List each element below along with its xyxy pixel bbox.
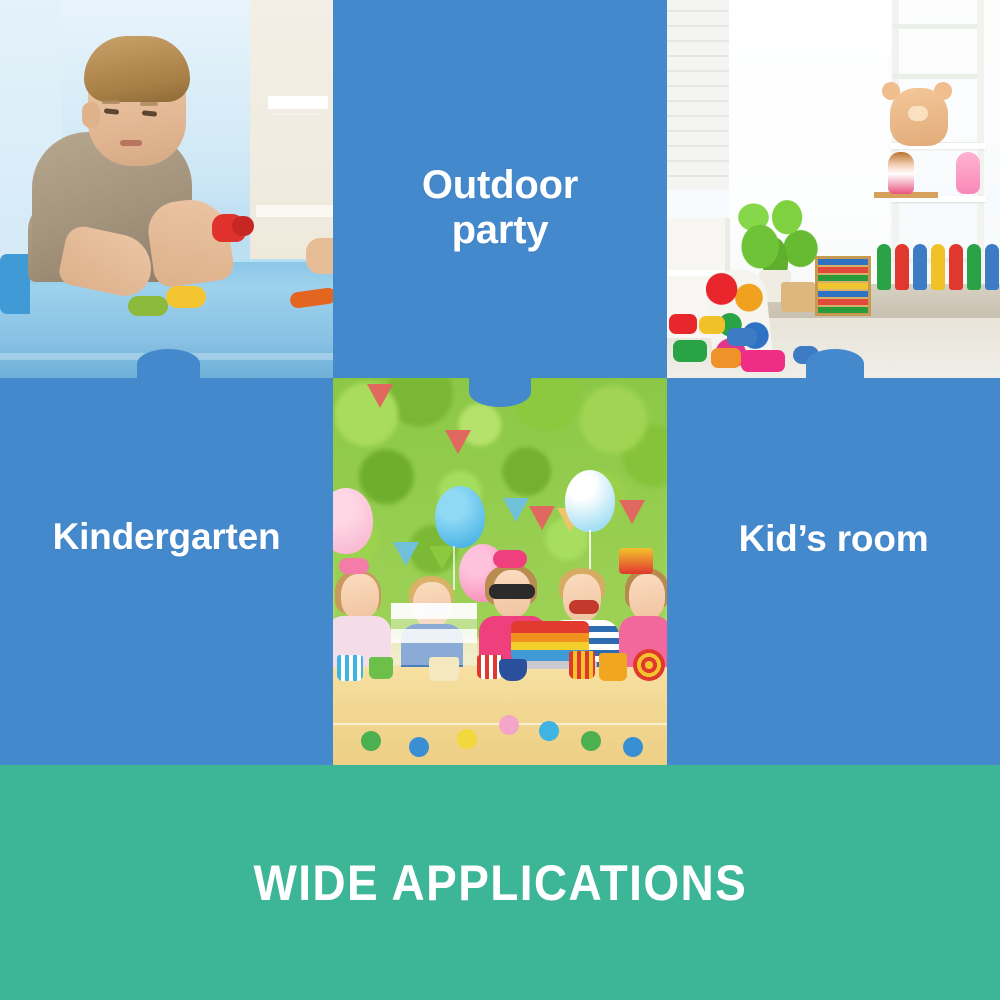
boy-mouth bbox=[120, 140, 142, 146]
pompom bbox=[623, 737, 643, 757]
rabbit-toy bbox=[956, 152, 980, 194]
tile-outdoor-party-label: Outdoor party bbox=[333, 163, 667, 253]
party-cup bbox=[369, 657, 393, 679]
candy-jar bbox=[599, 653, 627, 681]
puzzle-tab-center bbox=[469, 377, 531, 407]
ladder-rung bbox=[892, 24, 984, 29]
cupcake-stand bbox=[391, 603, 477, 665]
candy-jar bbox=[429, 657, 459, 681]
tile-playroom-photo bbox=[667, 0, 1000, 378]
wooden-blocks bbox=[781, 282, 815, 312]
bunting-flag bbox=[619, 500, 645, 524]
pompom bbox=[539, 721, 559, 741]
bowling-pin bbox=[931, 244, 945, 290]
kid-4-prop-moustache bbox=[569, 600, 599, 614]
tile-kindergarten-label: Kindergarten bbox=[0, 516, 333, 557]
floor-toy bbox=[727, 328, 757, 346]
shelf-plank-top bbox=[268, 96, 328, 109]
ladder-rung bbox=[892, 74, 984, 79]
floor-toy bbox=[673, 340, 707, 362]
kid-5-party-hat bbox=[619, 548, 653, 574]
boy-eyebrow-right bbox=[140, 102, 158, 106]
tile-birthday-party-photo bbox=[333, 378, 667, 765]
party-cup bbox=[337, 655, 363, 681]
balloon-cyan bbox=[565, 470, 615, 532]
boy-eyebrow-left bbox=[102, 100, 120, 104]
puzzle-tab-left bbox=[137, 349, 200, 379]
floor-toy bbox=[669, 314, 697, 334]
kid-1-hair-bow bbox=[339, 558, 369, 574]
bunting-flag bbox=[529, 506, 555, 530]
pompom bbox=[499, 715, 519, 735]
lollipop bbox=[633, 649, 665, 681]
bowling-pin bbox=[877, 244, 891, 290]
bowling-pin bbox=[985, 244, 999, 290]
bowling-pin bbox=[895, 244, 909, 290]
pompom bbox=[581, 731, 601, 751]
tea-cup bbox=[499, 659, 527, 681]
boy-ear bbox=[82, 102, 100, 128]
tile-outdoor-party-label-line1: Outdoor bbox=[333, 163, 667, 208]
tile-kindergarten[interactable]: Kindergarten bbox=[0, 378, 333, 765]
bowling-pin bbox=[967, 244, 981, 290]
bowling-pin bbox=[949, 244, 963, 290]
tile-outdoor-party-label-line2: party bbox=[333, 208, 667, 253]
doll-toy bbox=[888, 152, 914, 194]
bunting-flag bbox=[367, 384, 393, 408]
potted-plant-leaves bbox=[735, 178, 819, 276]
tile-kids-room[interactable]: Kid’s room bbox=[667, 378, 1000, 765]
chair bbox=[0, 254, 30, 314]
party-table bbox=[333, 667, 667, 765]
pompom bbox=[409, 737, 429, 757]
white-brick-wall bbox=[667, 0, 729, 190]
abacus-toy bbox=[815, 256, 871, 316]
boy-hair bbox=[84, 36, 190, 102]
kid-1-head bbox=[341, 574, 379, 620]
kid-3-glasses bbox=[489, 584, 535, 599]
bunting-flag bbox=[393, 542, 419, 566]
banner-title: WIDE APPLICATIONS bbox=[253, 854, 747, 912]
kid-4-head bbox=[563, 574, 601, 622]
bowling-pin bbox=[913, 244, 927, 290]
bunting-flag bbox=[429, 546, 455, 570]
floor-toy bbox=[699, 316, 725, 334]
teddy-bear-snout bbox=[908, 106, 928, 121]
tile-clay-play-photo bbox=[0, 0, 334, 378]
tile-kids-room-label: Kid’s room bbox=[667, 518, 1000, 559]
shelf-plank-bottom bbox=[256, 205, 334, 217]
bunting-flag bbox=[503, 498, 529, 522]
second-child-hand bbox=[306, 238, 334, 274]
kid-3-hair-bow bbox=[493, 550, 527, 568]
balloon-blue bbox=[435, 486, 485, 548]
balloon-string bbox=[453, 546, 455, 590]
pompom bbox=[361, 731, 381, 751]
clay-red-secondary bbox=[232, 216, 254, 236]
pompom bbox=[457, 729, 477, 749]
tile-outdoor-party[interactable]: Outdoor party bbox=[333, 0, 667, 378]
clay-green bbox=[128, 296, 168, 316]
shelf-unit bbox=[250, 0, 334, 272]
party-cup bbox=[569, 651, 595, 679]
bunting-flag bbox=[445, 430, 471, 454]
floor-toy bbox=[741, 350, 785, 372]
puzzle-tab-right bbox=[806, 349, 864, 379]
wide-applications-banner-bar: WIDE APPLICATIONS bbox=[0, 765, 1000, 1000]
boy-right-arm bbox=[145, 195, 236, 289]
kid-5-head bbox=[629, 574, 665, 620]
floor-toy bbox=[711, 348, 741, 368]
clay-yellow bbox=[166, 286, 206, 308]
wide-applications-banner: Outdoor party bbox=[0, 0, 1000, 1000]
